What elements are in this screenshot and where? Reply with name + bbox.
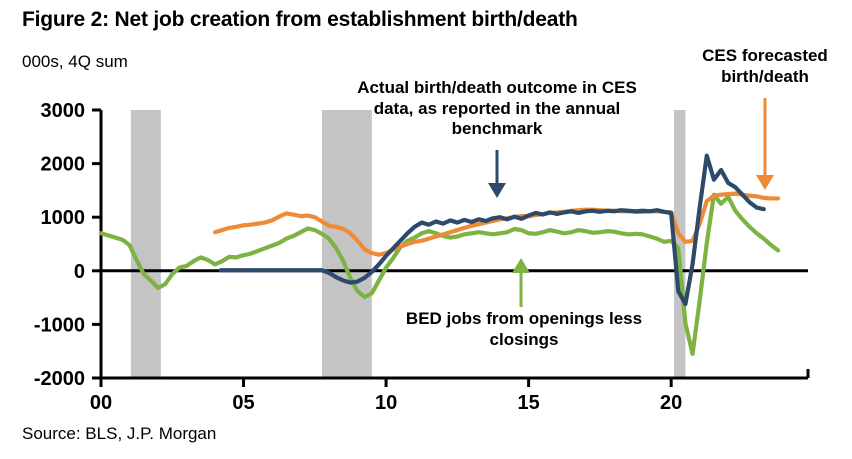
y-axis-tick-label: 1000 [41,207,86,229]
x-axis-tick-label: 15 [517,392,539,414]
y-axis-tick-label: -1000 [34,314,85,336]
y-axis-tick-label: 3000 [41,100,86,122]
x-axis-tick-label: 20 [660,392,682,414]
arrow-ces-forecast-head [756,175,774,190]
annotation-bed: BED jobs from openings less closings [404,309,644,350]
x-axis-tick-label: 00 [90,392,112,414]
annotation-ces-forecast: CES forecasted birth/death [700,46,830,87]
arrow-bed-head [512,258,530,273]
figure-container: Figure 2: Net job creation from establis… [0,0,852,459]
y-axis-tick-label: -2000 [34,368,85,390]
source-note: Source: BLS, J.P. Morgan [22,424,216,444]
x-axis-tick-label: 10 [375,392,397,414]
recession-band [322,110,372,378]
y-axis-tick-label: 2000 [41,154,86,176]
arrow-ces-actual-head [488,183,506,198]
y-axis-tick-label: 0 [74,261,85,283]
annotation-ces-actual: Actual birth/death outcome in CES data, … [352,78,642,140]
recession-band [131,110,161,378]
x-axis-tick-label: 05 [232,392,254,414]
